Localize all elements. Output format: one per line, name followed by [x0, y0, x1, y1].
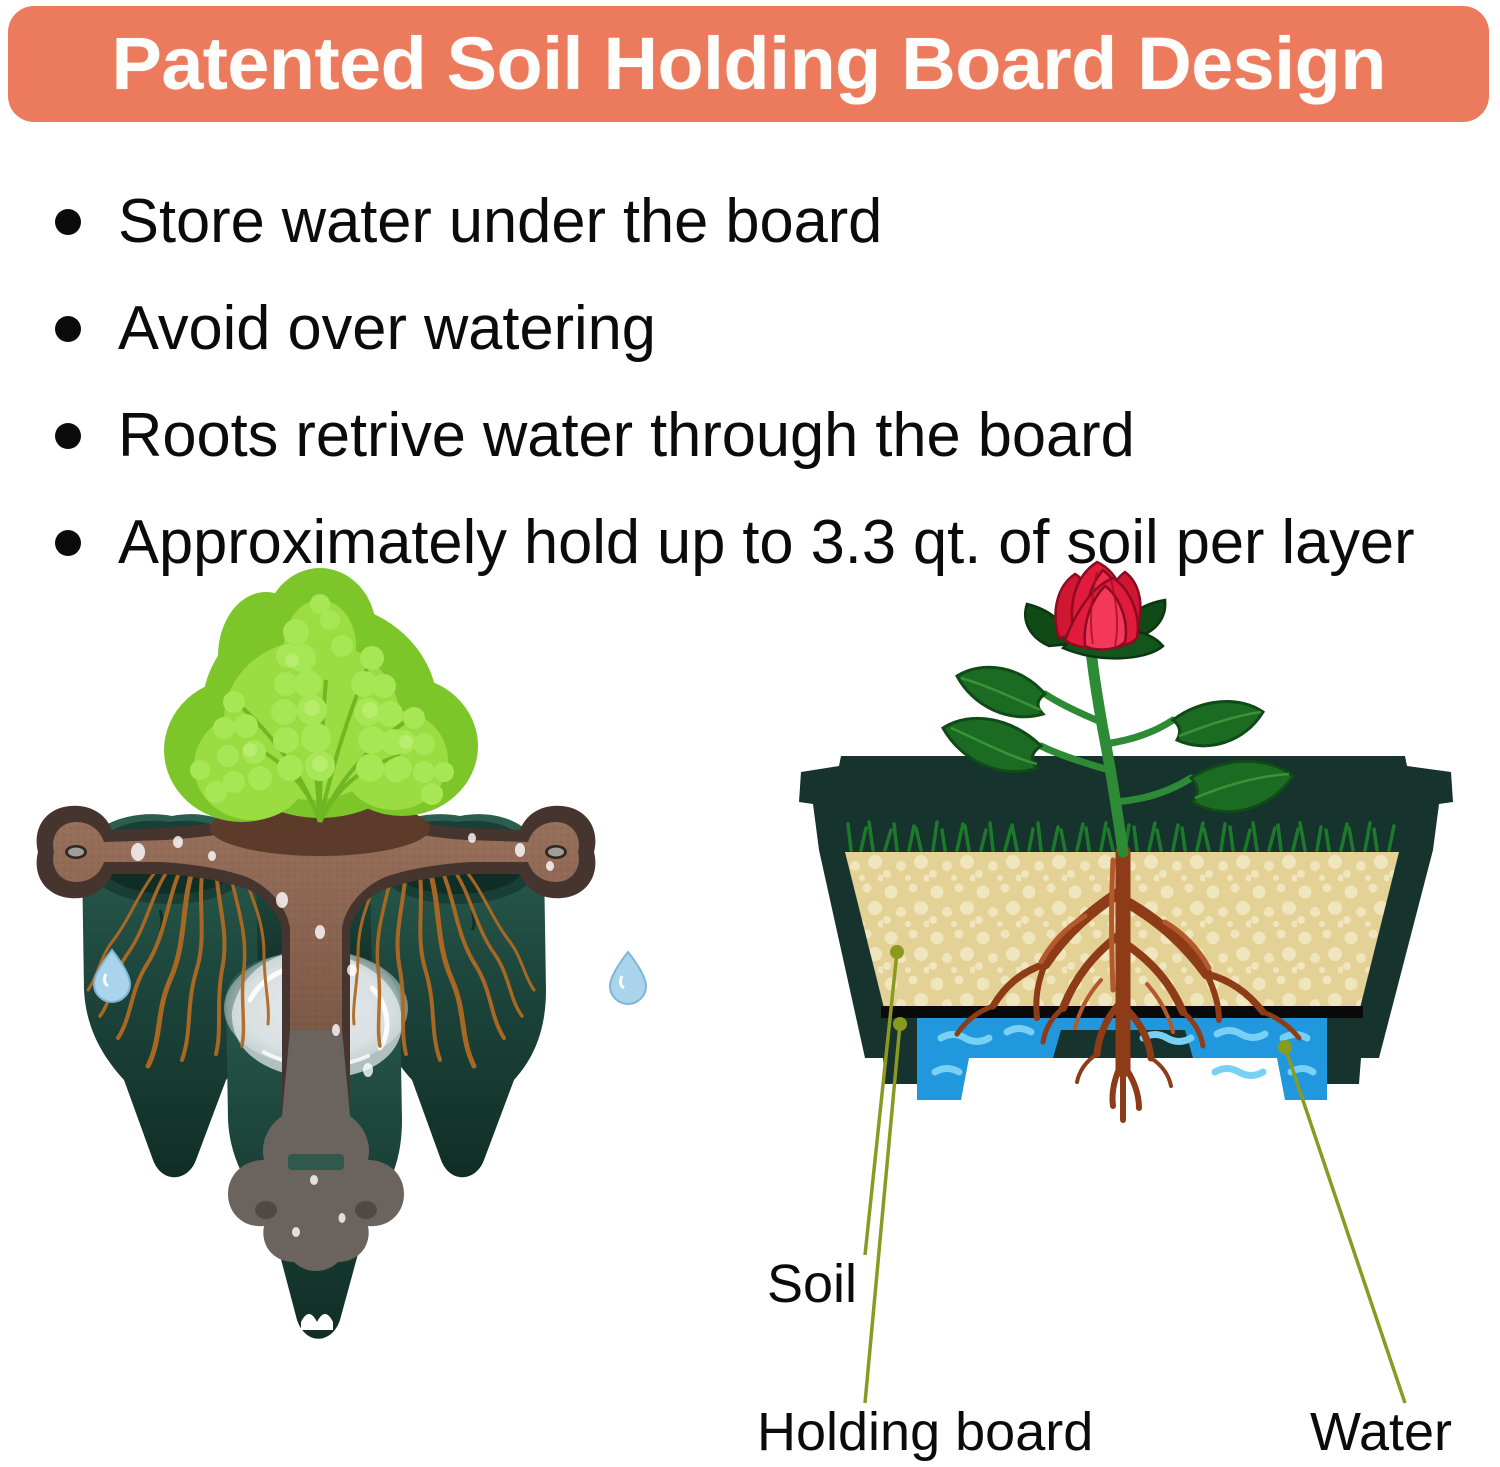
cross-section-graphic — [745, 560, 1500, 1467]
list-item: Store water under the board — [55, 168, 1485, 275]
callout-label-holding-board: Holding board — [757, 1405, 1093, 1459]
feature-bullet-list: Store water under the board Avoid over w… — [55, 168, 1485, 596]
leader-line-water — [1285, 1047, 1405, 1403]
illustration-area: Soil Holding board Water — [0, 560, 1500, 1467]
page-title: Patented Soil Holding Board Design — [111, 27, 1385, 101]
list-item-label: Store water under the board — [118, 191, 882, 253]
anchor-dot-soil — [890, 945, 904, 959]
bullet-point-icon — [55, 316, 81, 342]
bullet-point-icon — [55, 423, 81, 449]
stackable-planter-photo — [20, 560, 740, 1460]
pot-cross-section-diagram: Soil Holding board Water — [745, 560, 1500, 1467]
rose-bloom — [1056, 562, 1141, 649]
planter-photo-graphic — [20, 560, 740, 1460]
bullet-point-icon — [55, 209, 81, 235]
list-item: Avoid over watering — [55, 275, 1485, 382]
bullet-point-icon — [55, 530, 81, 556]
plant-foliage — [164, 568, 478, 856]
list-item-label: Roots retrive water through the board — [118, 405, 1135, 467]
anchor-dot-water — [1278, 1040, 1292, 1054]
page-header-banner: Patented Soil Holding Board Design — [8, 6, 1489, 122]
list-item-label: Avoid over watering — [118, 298, 656, 360]
callout-label-water: Water — [1310, 1405, 1452, 1459]
list-item: Roots retrive water through the board — [55, 382, 1485, 489]
callout-label-soil: Soil — [767, 1257, 857, 1311]
anchor-dot-holding-board — [893, 1017, 907, 1031]
